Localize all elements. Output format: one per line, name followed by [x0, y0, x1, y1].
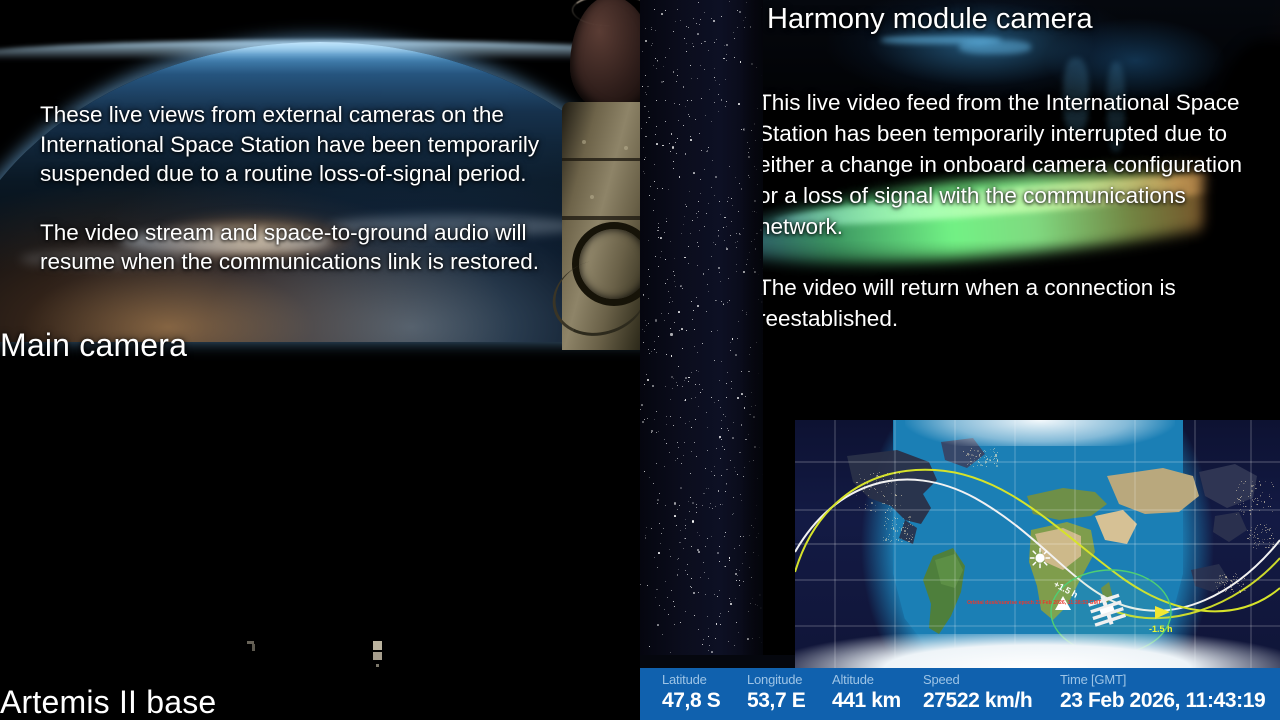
- artemis-base-label: Artemis II base: [0, 684, 216, 720]
- star: [658, 431, 659, 432]
- star: [698, 371, 699, 372]
- star: [670, 333, 672, 335]
- star: [684, 257, 686, 259]
- city-light: [986, 466, 987, 467]
- star: [723, 227, 724, 228]
- star: [700, 65, 701, 66]
- iss-tracker-map[interactable]: +1.5 h -1.5 h Orbital dusk/sunrise epoch…: [795, 420, 1280, 668]
- star: [642, 86, 643, 87]
- star: [671, 590, 672, 591]
- city-light: [1243, 514, 1244, 515]
- city-light: [1235, 582, 1236, 583]
- star: [641, 128, 642, 129]
- star: [674, 275, 675, 276]
- star: [673, 71, 675, 73]
- star: [690, 497, 691, 498]
- telemetry-field-altitude: Altitude 441 km: [832, 672, 901, 713]
- star: [725, 79, 726, 80]
- notice-line: suspended due to a routine loss-of-signa…: [40, 159, 600, 189]
- star: [644, 173, 645, 174]
- star: [715, 176, 717, 178]
- telemetry-value: 23 Feb 2026, 11:43:19: [1060, 689, 1265, 713]
- star: [726, 226, 727, 227]
- star: [691, 546, 692, 547]
- city-light: [885, 512, 886, 513]
- star: [706, 213, 707, 214]
- star: [707, 284, 708, 285]
- city-light: [1262, 529, 1263, 530]
- star: [731, 388, 732, 389]
- star: [685, 538, 686, 539]
- star: [669, 452, 670, 453]
- city-light: [1266, 547, 1267, 548]
- star: [663, 81, 664, 82]
- star: [666, 443, 667, 444]
- telemetry-field-speed: Speed 27522 km/h: [923, 672, 1032, 713]
- arctic-ice: [905, 420, 1175, 446]
- city-light: [1239, 585, 1240, 586]
- telemetry-value: 47,8 S: [662, 689, 720, 713]
- city-light: [982, 465, 983, 466]
- city-light: [1225, 576, 1227, 578]
- city-light: [1267, 539, 1268, 540]
- city-light: [896, 524, 897, 525]
- star: [660, 238, 662, 240]
- star: [721, 301, 722, 302]
- telemetry-label: Latitude: [662, 672, 720, 687]
- star: [711, 256, 712, 257]
- city-light: [1272, 544, 1273, 545]
- hardware-bolt: [624, 146, 628, 150]
- telemetry-label: Longitude: [747, 672, 805, 687]
- star: [736, 569, 737, 570]
- star: [688, 246, 689, 247]
- star: [709, 507, 710, 508]
- star: [697, 305, 699, 307]
- notice-spacer: [40, 189, 600, 218]
- star: [704, 226, 705, 227]
- star: [685, 399, 687, 401]
- star: [691, 427, 692, 428]
- star: [729, 1, 730, 2]
- star: [687, 574, 688, 575]
- main-camera-panel[interactable]: These live views from external cameras o…: [0, 0, 640, 720]
- star: [733, 497, 734, 498]
- star: [686, 330, 687, 331]
- city-light: [1266, 532, 1267, 533]
- star: [688, 27, 689, 28]
- star: [735, 471, 736, 472]
- star: [685, 204, 686, 205]
- harmony-camera-panel[interactable]: This live video feed from the Internatio…: [763, 0, 1280, 420]
- city-light: [863, 491, 864, 492]
- city-light: [1272, 533, 1273, 534]
- city-light: [1245, 481, 1246, 482]
- city-light: [867, 483, 868, 484]
- star: [683, 224, 685, 226]
- star: [641, 404, 643, 406]
- star: [676, 81, 677, 82]
- star: [646, 325, 647, 326]
- city-light: [875, 489, 876, 490]
- city-light: [870, 510, 872, 512]
- harmony-camera-label: Harmony module camera: [767, 3, 1093, 36]
- map-vector-layer: +1.5 h -1.5 h Orbital dusk/sunrise epoch…: [795, 420, 1280, 668]
- star: [714, 402, 715, 403]
- city-light: [1230, 580, 1231, 581]
- city-light: [1237, 498, 1238, 499]
- star: [661, 13, 663, 15]
- city-light: [864, 482, 865, 483]
- city-light: [1231, 587, 1232, 588]
- star: [686, 206, 688, 208]
- star: [701, 150, 702, 151]
- star: [648, 349, 649, 350]
- star: [715, 80, 716, 81]
- harmony-camera-notice: This live video feed from the Internatio…: [763, 87, 1280, 334]
- star: [727, 201, 728, 202]
- city-light: [1272, 484, 1273, 485]
- star: [718, 94, 719, 95]
- star: [643, 147, 644, 148]
- star: [696, 507, 697, 508]
- star: [649, 353, 650, 354]
- star: [655, 134, 656, 135]
- star: [674, 103, 675, 104]
- star: [679, 104, 680, 105]
- city-light: [908, 525, 909, 526]
- star: [719, 201, 720, 202]
- notice-spacer: [763, 242, 1280, 272]
- star: [690, 233, 691, 234]
- star: [716, 39, 717, 40]
- star: [737, 10, 738, 11]
- star: [714, 594, 715, 595]
- notice-line: The video stream and space-to-ground aud…: [40, 218, 600, 248]
- star: [737, 338, 738, 339]
- star: [656, 411, 657, 412]
- star: [725, 532, 726, 533]
- city-light: [1232, 582, 1233, 583]
- star: [651, 351, 652, 352]
- city-light: [1257, 498, 1258, 499]
- star: [721, 99, 723, 101]
- city-light: [895, 518, 896, 519]
- city-light: [1265, 481, 1266, 482]
- star: [689, 511, 690, 512]
- city-light: [1241, 481, 1242, 482]
- star: [728, 611, 729, 612]
- star: [701, 98, 702, 99]
- star: [724, 217, 726, 219]
- star: [698, 211, 699, 212]
- city-light: [1241, 586, 1242, 587]
- star: [735, 242, 736, 243]
- star: [682, 288, 683, 289]
- star: [692, 319, 693, 320]
- star: [695, 397, 696, 398]
- city-light: [897, 518, 898, 519]
- star: [662, 188, 663, 189]
- star: [678, 366, 679, 367]
- star: [678, 447, 679, 448]
- city-light: [911, 536, 912, 537]
- star: [656, 126, 657, 127]
- city-light: [1256, 545, 1257, 546]
- city-light: [898, 539, 899, 540]
- star: [725, 566, 726, 567]
- star: [732, 514, 733, 515]
- city-light: [1243, 490, 1244, 491]
- city-light: [1251, 527, 1252, 528]
- star: [686, 26, 687, 27]
- city-light: [892, 523, 893, 524]
- star: [721, 439, 722, 440]
- star: [735, 598, 736, 599]
- star: [680, 487, 682, 489]
- star: [694, 442, 695, 443]
- star: [670, 151, 671, 152]
- city-light: [912, 525, 913, 526]
- city-light: [1253, 485, 1254, 486]
- city-light: [906, 535, 907, 536]
- star: [719, 438, 720, 439]
- star: [681, 233, 682, 234]
- city-light: [1250, 493, 1251, 494]
- city-light: [980, 464, 982, 466]
- star: [714, 77, 715, 78]
- star: [657, 230, 659, 232]
- star: [686, 43, 687, 44]
- star: [665, 259, 666, 260]
- star: [694, 329, 695, 330]
- city-light: [903, 518, 904, 519]
- star: [734, 548, 735, 549]
- city-light: [1247, 530, 1248, 531]
- star: [708, 147, 709, 148]
- star: [708, 203, 709, 204]
- star: [660, 257, 661, 258]
- notice-line: This live video feed from the Internatio…: [763, 87, 1280, 118]
- star: [671, 133, 673, 135]
- city-light: [1269, 547, 1270, 548]
- star: [732, 205, 733, 206]
- star: [681, 328, 683, 330]
- city-light: [888, 519, 889, 520]
- star: [674, 258, 676, 260]
- star: [702, 343, 703, 344]
- star: [715, 638, 716, 639]
- city-light: [900, 505, 901, 506]
- star: [647, 86, 649, 88]
- star: [725, 106, 727, 108]
- star: [687, 564, 688, 565]
- star: [729, 598, 730, 599]
- city-light: [887, 500, 888, 501]
- star: [719, 272, 720, 273]
- star: [694, 615, 695, 616]
- star: [705, 468, 706, 469]
- star: [649, 646, 650, 647]
- star: [651, 45, 652, 46]
- city-light: [1232, 581, 1233, 582]
- city-light: [1240, 509, 1241, 510]
- star: [689, 116, 690, 117]
- star: [705, 594, 706, 595]
- city-light: [973, 455, 974, 456]
- star: [725, 416, 726, 417]
- star: [688, 114, 689, 115]
- star: [683, 548, 684, 549]
- star: [657, 503, 658, 504]
- star: [680, 20, 682, 22]
- star: [658, 237, 659, 238]
- star: [677, 559, 678, 560]
- city-light: [1263, 507, 1264, 508]
- star: [653, 210, 654, 211]
- star: [702, 389, 703, 390]
- city-light: [997, 459, 998, 460]
- city-light: [1245, 590, 1246, 591]
- city-light: [1243, 511, 1245, 513]
- star: [665, 10, 666, 11]
- star: [700, 193, 702, 195]
- star: [692, 502, 694, 504]
- city-light: [891, 493, 892, 494]
- star: [655, 597, 656, 598]
- star: [681, 463, 682, 464]
- star: [678, 569, 679, 570]
- city-light: [908, 517, 909, 518]
- star: [708, 488, 709, 489]
- antarctic-ice: [795, 634, 1280, 668]
- city-light: [883, 476, 884, 477]
- city-light: [884, 496, 885, 497]
- star: [723, 414, 724, 415]
- star: [644, 419, 645, 420]
- star: [714, 360, 715, 361]
- star: [685, 106, 686, 107]
- star: [666, 354, 667, 355]
- star: [720, 613, 721, 614]
- star: [724, 45, 725, 46]
- city-light: [1223, 591, 1224, 592]
- star: [736, 622, 737, 623]
- star: [696, 512, 697, 513]
- star: [718, 111, 719, 112]
- city-light: [872, 484, 873, 485]
- sun-icon: [1031, 549, 1050, 568]
- star: [664, 320, 665, 321]
- star: [679, 176, 681, 178]
- star: [667, 597, 668, 598]
- star: [646, 94, 647, 95]
- star: [673, 271, 674, 272]
- city-light: [1249, 537, 1250, 538]
- star: [717, 552, 719, 554]
- star: [737, 575, 738, 576]
- star: [719, 380, 720, 381]
- star: [698, 629, 700, 631]
- star: [730, 460, 731, 461]
- star: [659, 605, 661, 607]
- main-camera-label: Main camera: [0, 327, 187, 364]
- star: [686, 51, 687, 52]
- city-light: [901, 538, 902, 539]
- main-camera-notice: These live views from external cameras o…: [40, 100, 600, 277]
- star: [720, 504, 721, 505]
- star: [683, 125, 684, 126]
- city-light: [1222, 582, 1223, 583]
- star: [725, 491, 726, 492]
- star: [731, 381, 732, 382]
- star: [676, 153, 677, 154]
- star: [644, 159, 645, 160]
- city-light: [1233, 579, 1234, 580]
- star: [735, 354, 737, 356]
- star: [711, 187, 712, 188]
- star: [732, 437, 734, 439]
- star: [645, 40, 647, 42]
- star: [705, 115, 706, 116]
- city-light: [870, 474, 871, 475]
- star: [693, 18, 694, 19]
- star: [700, 179, 701, 180]
- star: [706, 151, 708, 153]
- star: [728, 197, 729, 198]
- city-light: [1269, 494, 1270, 495]
- star: [675, 142, 676, 143]
- star: [688, 263, 689, 264]
- city-light: [891, 540, 892, 541]
- city-light: [859, 474, 860, 475]
- star: [647, 418, 648, 419]
- city-light: [909, 538, 910, 539]
- city-light: [1249, 510, 1250, 511]
- star: [665, 121, 666, 122]
- star: [734, 467, 735, 468]
- star: [661, 533, 662, 534]
- star: [674, 502, 676, 504]
- star: [644, 384, 645, 385]
- star: [659, 493, 660, 494]
- star: [677, 138, 678, 139]
- star: [673, 425, 674, 426]
- city-light: [979, 462, 980, 463]
- city-light: [1258, 545, 1259, 546]
- star: [663, 528, 664, 529]
- city-light: [902, 541, 903, 542]
- city-light: [909, 516, 911, 518]
- city-light: [1224, 584, 1225, 585]
- city-light: [1251, 506, 1252, 507]
- star: [721, 16, 722, 17]
- star: [698, 246, 699, 247]
- city-light: [879, 481, 880, 482]
- city-light: [977, 465, 978, 466]
- city-light: [897, 530, 899, 532]
- city-light: [890, 478, 891, 479]
- star: [691, 372, 693, 374]
- star: [697, 242, 698, 243]
- star: [670, 241, 671, 242]
- city-light: [1252, 481, 1253, 482]
- star: [658, 227, 659, 228]
- star: [720, 281, 722, 283]
- star: [677, 442, 678, 443]
- star: [698, 592, 699, 593]
- city-light: [1220, 591, 1221, 592]
